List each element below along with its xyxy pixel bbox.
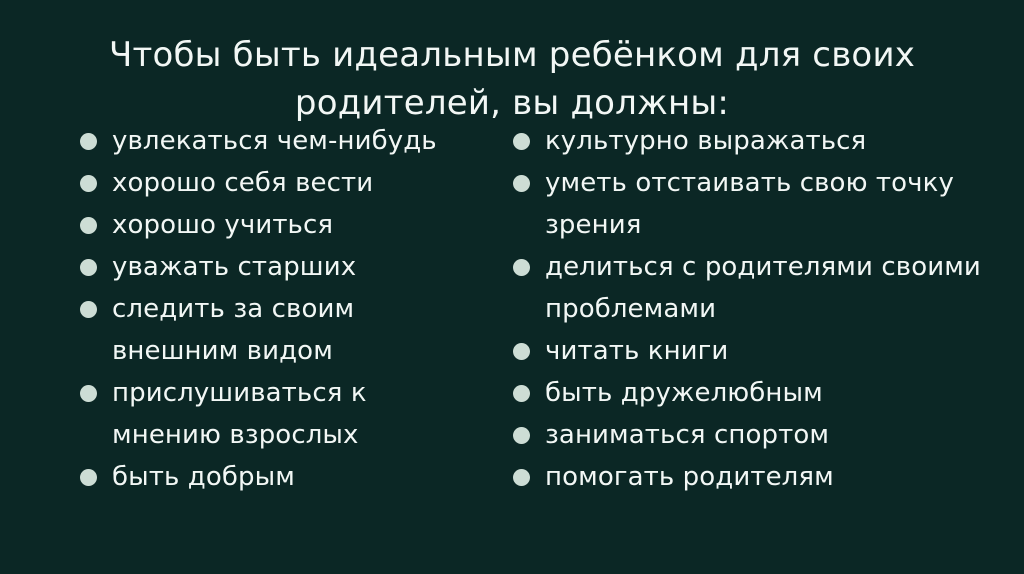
bullet-dot-icon bbox=[80, 133, 97, 150]
list-item-label: хорошо себя вести bbox=[112, 162, 460, 204]
bullet-dot-icon bbox=[513, 469, 530, 486]
bullet-list-left: увлекаться чем-нибудь хорошо себя вести … bbox=[80, 120, 460, 498]
list-item-label: хорошо учиться bbox=[112, 204, 460, 246]
list-item-label: заниматься спортом bbox=[545, 414, 1024, 456]
list-item: помогать родителям bbox=[513, 456, 1024, 498]
bullet-dot-icon bbox=[513, 343, 530, 360]
bullet-dot-icon bbox=[80, 175, 97, 192]
list-item-label: следить за своим внешним видом bbox=[112, 288, 460, 372]
list-item-label: быть дружелюбным bbox=[545, 372, 1024, 414]
list-item: уметь отстаивать свою точку зрения bbox=[513, 162, 1024, 246]
list-item: следить за своим внешним видом bbox=[80, 288, 460, 372]
bullet-list-right: культурно выражаться уметь отстаивать св… bbox=[513, 120, 1024, 498]
list-item-label: уметь отстаивать свою точку зрения bbox=[545, 162, 1024, 246]
list-item: делиться с родителями своими проблемами bbox=[513, 246, 1024, 330]
bullet-dot-icon bbox=[80, 217, 97, 234]
list-item: читать книги bbox=[513, 330, 1024, 372]
list-item-label: читать книги bbox=[545, 330, 1024, 372]
list-item-label: прислушиваться к мнению взрослых bbox=[112, 372, 460, 456]
list-item: хорошо учиться bbox=[80, 204, 460, 246]
bullet-dot-icon bbox=[80, 301, 97, 318]
slide-canvas: Чтобы быть идеальным ребёнком для своих … bbox=[0, 0, 1024, 574]
list-item: хорошо себя вести bbox=[80, 162, 460, 204]
bullet-column-left: увлекаться чем-нибудь хорошо себя вести … bbox=[0, 120, 460, 498]
bullet-column-right: культурно выражаться уметь отстаивать св… bbox=[460, 120, 1024, 498]
bullet-dot-icon bbox=[513, 175, 530, 192]
bullet-dot-icon bbox=[80, 469, 97, 486]
bullet-dot-icon bbox=[513, 385, 530, 402]
bullet-dot-icon bbox=[80, 385, 97, 402]
list-item: увлекаться чем-нибудь bbox=[80, 120, 460, 162]
bullet-dot-icon bbox=[513, 133, 530, 150]
list-item-label: культурно выражаться bbox=[545, 120, 1024, 162]
bullet-columns: увлекаться чем-нибудь хорошо себя вести … bbox=[0, 120, 1024, 498]
list-item: быть добрым bbox=[80, 456, 460, 498]
list-item: прислушиваться к мнению взрослых bbox=[80, 372, 460, 456]
list-item-label: помогать родителям bbox=[545, 456, 1024, 498]
bullet-dot-icon bbox=[513, 259, 530, 276]
list-item-label: быть добрым bbox=[112, 456, 460, 498]
list-item-label: увлекаться чем-нибудь bbox=[112, 120, 460, 162]
bullet-dot-icon bbox=[513, 427, 530, 444]
list-item: заниматься спортом bbox=[513, 414, 1024, 456]
bullet-dot-icon bbox=[80, 259, 97, 276]
list-item-label: уважать старших bbox=[112, 246, 460, 288]
list-item: культурно выражаться bbox=[513, 120, 1024, 162]
list-item-label: делиться с родителями своими проблемами bbox=[545, 246, 1024, 330]
list-item: уважать старших bbox=[80, 246, 460, 288]
page-title: Чтобы быть идеальным ребёнком для своих … bbox=[14, 31, 1010, 127]
list-item: быть дружелюбным bbox=[513, 372, 1024, 414]
